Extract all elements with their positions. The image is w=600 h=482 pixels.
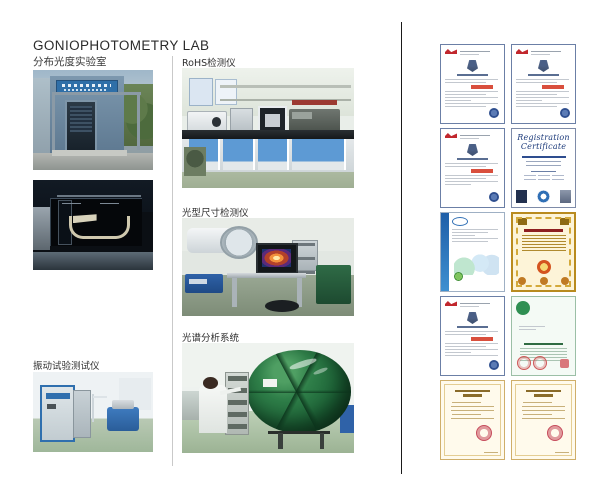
registration-standards-2: [516, 179, 571, 180]
caption-rohs-analyzer: RoHS检测仪: [182, 55, 236, 69]
badge-dark-icon: [516, 190, 527, 203]
entry-step: [52, 150, 126, 156]
certificate-environmental-certificate[interactable]: [511, 296, 576, 376]
left-column-divider: [172, 56, 173, 466]
certificate-row: [440, 44, 576, 124]
badge-round-icon: [537, 190, 550, 203]
crest-icon: [538, 60, 549, 72]
slide-page: GONIOPHOTOMETRY LAB 分布光度实验室 振动试验测试仪: [0, 0, 600, 482]
overhead-shelf: [220, 85, 351, 89]
bench-top: [182, 130, 354, 138]
patent-seal-icon: [547, 425, 563, 441]
floor-drum: [265, 300, 299, 312]
cert-title-bar: [457, 74, 488, 76]
room-label-right: [100, 197, 119, 204]
entrance-door: [65, 100, 97, 152]
eco-mark-icon: [454, 272, 463, 281]
green-title-bar: [524, 343, 563, 345]
caption-spectrum-system: 光谱分析系统: [182, 330, 239, 344]
certificate-patent-certificate-1[interactable]: [440, 380, 505, 460]
certificate-china-honor-certificate[interactable]: [511, 212, 576, 292]
certificate-grid: Registration Certificate: [440, 44, 576, 464]
canopy-post-right: [137, 92, 140, 150]
cert-header-lines: [531, 49, 571, 57]
photo-beam-pattern-dimension-tester: [182, 218, 354, 316]
sphere-stand-leg-left: [278, 433, 282, 448]
beam-pattern-monitor: [256, 243, 298, 273]
red-stamps: [517, 356, 547, 370]
red-seal-icon: [560, 359, 569, 368]
company-logo-icon: [452, 217, 468, 226]
table-leg-right: [297, 278, 302, 307]
registration-company-bar: [522, 156, 566, 158]
gold-badges: [518, 277, 569, 285]
green-header-lines: [519, 324, 554, 332]
right-column-divider: [401, 22, 402, 474]
certificate-row: [440, 212, 576, 292]
certificate-patent-certificate-2[interactable]: [511, 380, 576, 460]
green-emblem-icon: [516, 301, 530, 315]
crest-icon: [467, 60, 478, 72]
crest-icon: [467, 144, 478, 156]
canopy-post-left: [52, 92, 55, 150]
caption-beam-dimension-tester: 光型尺寸检测仪: [182, 205, 249, 219]
certificate-registration-certificate[interactable]: Registration Certificate: [511, 128, 576, 208]
table-leg-left: [232, 278, 237, 307]
vib-control-cabinet: [40, 385, 75, 442]
crest-icon: [467, 312, 478, 324]
cert-header: [445, 133, 500, 141]
cert-header: [445, 49, 500, 57]
cert-header: [516, 49, 571, 57]
brand-mark-icon: [445, 133, 457, 138]
green-cabinet: [316, 265, 350, 304]
certificate-row: [440, 380, 576, 460]
left-equipment-block: [182, 391, 199, 420]
badge-grey-icon: [560, 190, 571, 203]
accreditation-badges: [516, 190, 571, 203]
page-title: GONIOPHOTOMETRY LAB: [33, 38, 209, 53]
photo-integrating-sphere-spectrum-system: [182, 343, 354, 453]
sphere-label-tag: [263, 379, 277, 387]
cert-header-lines: [460, 301, 500, 309]
official-seal-icon: [489, 192, 499, 202]
certificate-row: [440, 296, 576, 376]
certificate-row: Registration Certificate: [440, 128, 576, 208]
patent-title-bar2: [534, 394, 553, 397]
photo-vibration-test-machine: [33, 372, 153, 452]
darkroom-floor: [33, 252, 153, 270]
certificate-test-certificate-4[interactable]: [440, 296, 505, 376]
brand-mark-icon: [445, 301, 457, 306]
cert-body: [516, 79, 571, 107]
bench-cabinet-3: [258, 139, 289, 170]
official-seal-icon: [560, 108, 570, 118]
vib-support-pole: [92, 394, 94, 421]
certificate-test-certificate-1[interactable]: [440, 44, 505, 124]
cert-body: [445, 79, 500, 107]
gold-title-bar: [524, 229, 564, 232]
cert-title-bar: [528, 74, 559, 76]
certificate-test-certificate-3[interactable]: [440, 128, 505, 208]
wall-poster-1: [189, 78, 213, 106]
vib-amplifier-rack: [73, 390, 92, 438]
registration-standards: [516, 175, 571, 176]
patent-seal-icon: [476, 425, 492, 441]
cert-title-bar: [457, 158, 488, 160]
photo-goniophotometer-darkroom: [33, 180, 153, 270]
bench-cabinet-4: [292, 139, 346, 170]
official-seal-icon: [489, 360, 499, 370]
measurement-rack: [225, 372, 249, 436]
patent-footer-mark: [555, 452, 569, 453]
bench-cabinet-2: [223, 139, 254, 170]
patent-title-bar2: [463, 394, 482, 397]
patent-footer-mark: [484, 452, 498, 453]
cert-body: [445, 331, 500, 356]
vib-shaker-unit: [107, 407, 138, 431]
cert-header-lines: [460, 49, 500, 57]
certificate-product-report-certificate[interactable]: [440, 212, 505, 292]
photo-lab-entrance: [33, 70, 153, 170]
certificate-test-certificate-2[interactable]: [511, 44, 576, 124]
optical-table: [227, 273, 306, 278]
blue-controller-box: [185, 274, 223, 294]
photo-rohs-analyzer-bench: [182, 68, 354, 188]
blue-side-stripe: [441, 213, 449, 291]
lab-chair: [184, 147, 206, 176]
canopy-beam: [52, 92, 141, 95]
gold-header-marks: [516, 217, 571, 226]
cert-header-lines: [460, 133, 500, 141]
room-label-left: [62, 197, 81, 204]
green-header: [516, 301, 571, 337]
cert-title-bar: [457, 326, 488, 328]
gold-seal-icon: [537, 260, 551, 274]
cert-header: [445, 301, 500, 309]
xrf-instrument: [289, 109, 341, 132]
patent-title-bar: [455, 390, 490, 392]
page-subtitle: 分布光度实验室: [33, 54, 107, 69]
patent-title-bar: [526, 390, 561, 392]
brand-mark-icon: [445, 49, 457, 54]
darkroom-side-wall: [33, 207, 50, 250]
registration-title-line2: Certificate: [516, 143, 571, 152]
vib-support-arm: [93, 396, 107, 398]
cert-body: [445, 163, 500, 185]
caption-vibration-tester: 振动试验测试仪: [33, 358, 100, 372]
brand-mark-icon: [516, 49, 528, 54]
red-equipment-strip: [292, 100, 337, 105]
sphere-stand-leg-right: [320, 433, 324, 448]
official-seal-icon: [489, 108, 499, 118]
